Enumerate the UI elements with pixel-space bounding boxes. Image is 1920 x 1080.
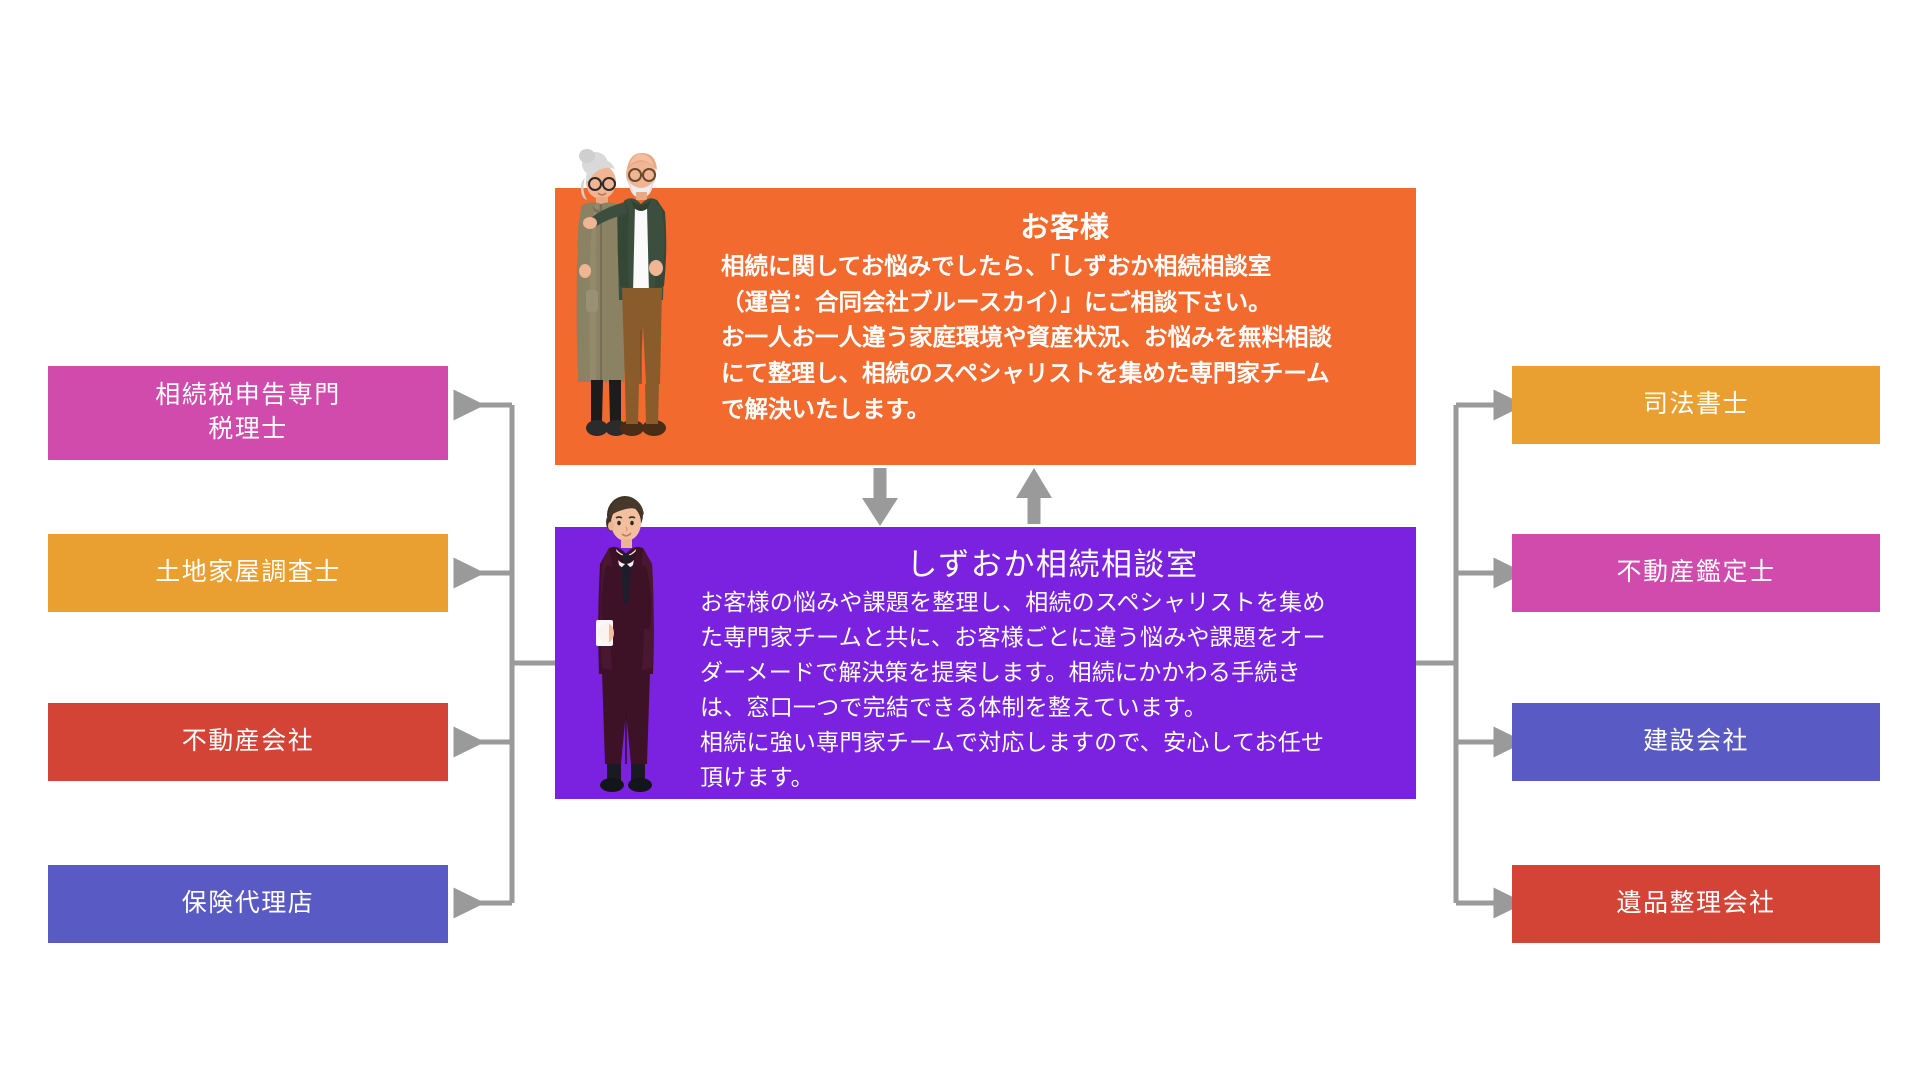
right-box-label: 司法書士 [1643, 388, 1749, 422]
office-line: は、窓口一つで完結できる体制を整えています。 [700, 690, 1415, 725]
right-box-estate-cleanup-company[interactable]: 遺品整理会社 [1512, 865, 1880, 943]
customer-line: にて整理し、相続のスペシャリストを集めた専門家チーム [721, 356, 1415, 392]
customer-line: （運営：合同会社ブルースカイ）」にご相談下さい。 [721, 285, 1415, 321]
left-box-label: 相続税申告専門 税理士 [155, 379, 341, 447]
left-box-land-surveyor[interactable]: 土地家屋調査士 [48, 534, 448, 612]
office-description: お客様の悩みや課題を整理し、相続のスペシャリストを集め た専門家チームと共に、お… [690, 585, 1415, 795]
arrow-down-icon [862, 468, 898, 526]
right-box-construction-company[interactable]: 建設会社 [1512, 703, 1880, 781]
left-box-tax-accountant[interactable]: 相続税申告専門 税理士 [48, 366, 448, 460]
customer-line: 相続に関してお悩みでしたら、「しずおか相続相談室 [721, 249, 1415, 285]
office-line: 頂けます。 [700, 760, 1415, 795]
right-box-label: 不動産鑑定士 [1616, 556, 1775, 590]
right-box-judicial-scrivener[interactable]: 司法書士 [1512, 366, 1880, 444]
left-box-label: 土地家屋調査士 [155, 556, 341, 590]
male-advisor-illustration [578, 487, 673, 799]
left-box-label: 不動産会社 [182, 725, 315, 759]
diagram-canvas: お客様 相続に関してお悩みでしたら、「しずおか相続相談室 （運営：合同会社ブルー… [0, 0, 1920, 1080]
office-line: お客様の悩みや課題を整理し、相続のスペシャリストを集め [700, 585, 1415, 620]
right-box-real-estate-appraiser[interactable]: 不動産鑑定士 [1512, 534, 1880, 612]
right-box-label: 建設会社 [1643, 725, 1749, 759]
left-box-insurance-agency[interactable]: 保険代理店 [48, 865, 448, 943]
office-title: しずおか相続相談室 [690, 539, 1415, 584]
customer-title: お客様 [715, 204, 1415, 246]
arrow-up-icon [1016, 468, 1052, 524]
office-box: しずおか相続相談室 お客様の悩みや課題を整理し、相続のスペシャリストを集め た専… [555, 527, 1416, 799]
right-box-label: 遺品整理会社 [1616, 887, 1775, 921]
customer-description: 相続に関してお悩みでしたら、「しずおか相続相談室 （運営：合同会社ブルースカイ）… [715, 249, 1415, 428]
office-line: 相続に強い専門家チームで対応しますので、安心してお任せ [700, 725, 1415, 760]
left-box-label: 保険代理店 [182, 887, 315, 921]
left-box-real-estate-company[interactable]: 不動産会社 [48, 703, 448, 781]
customer-line: お一人お一人違う家庭環境や資産状況、お悩みを無料相談 [721, 320, 1415, 356]
office-line: ダーメードで解決策を提案します。相続にかかわる手続き [700, 655, 1415, 690]
elderly-couple-illustration [565, 140, 695, 450]
office-line: た専門家チームと共に、お客様ごとに違う悩みや課題をオー [700, 620, 1415, 655]
customer-line: で解決いたします。 [721, 392, 1415, 428]
